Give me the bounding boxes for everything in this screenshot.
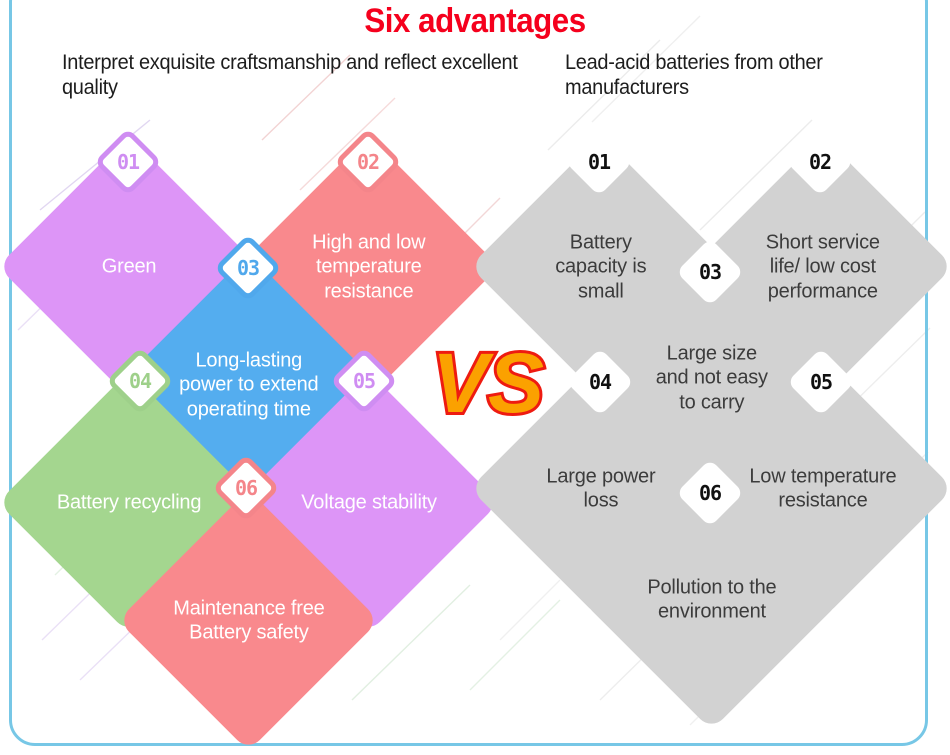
competitor-number-06: 06	[699, 483, 721, 503]
left-panel-heading: Interpret exquisite craftsmanship and re…	[62, 50, 518, 100]
competitor-label-03: Large size and not easy to carry	[628, 341, 796, 414]
competitor-number-01: 01	[588, 152, 610, 172]
advantage-number-02: 02	[357, 152, 379, 172]
advantage-label-02: High and low temperature resistance	[285, 230, 453, 303]
competitor-label-02: Short service life/ low cost performance	[739, 230, 907, 303]
page-title: Six advantages	[38, 2, 912, 41]
competitor-label-01: Battery capacity is small	[517, 230, 685, 303]
right-panel-heading: Lead-acid batteries from other manufactu…	[565, 50, 907, 100]
competitor-label-04: Large power loss	[517, 464, 685, 513]
competitor-number-05: 05	[810, 372, 832, 392]
versus-logo: VS	[418, 340, 558, 426]
advantage-number-06: 06	[235, 478, 257, 498]
competitor-number-04: 04	[589, 372, 611, 392]
advantage-number-01: 01	[117, 152, 139, 172]
advantage-number-04: 04	[129, 371, 151, 391]
advantage-number-03: 03	[237, 258, 259, 278]
competitor-label-06: Pollution to the environment	[628, 575, 796, 624]
svg-text:VS: VS	[432, 340, 544, 426]
advantage-label-03: Long-lasting power to extend operating t…	[165, 348, 333, 421]
infographic-canvas: Six advantages Interpret exquisite craft…	[0, 0, 950, 755]
competitor-label-05: Low temperature resistance	[739, 464, 907, 513]
advantage-label-01: Green	[45, 254, 213, 278]
advantage-label-05: Voltage stability	[285, 490, 453, 514]
advantage-label-06: Maintenance free Battery safety	[165, 596, 333, 645]
competitor-number-02: 02	[809, 152, 831, 172]
advantage-label-04: Battery recycling	[45, 490, 213, 514]
advantage-number-05: 05	[353, 371, 375, 391]
competitor-number-03: 03	[699, 262, 721, 282]
